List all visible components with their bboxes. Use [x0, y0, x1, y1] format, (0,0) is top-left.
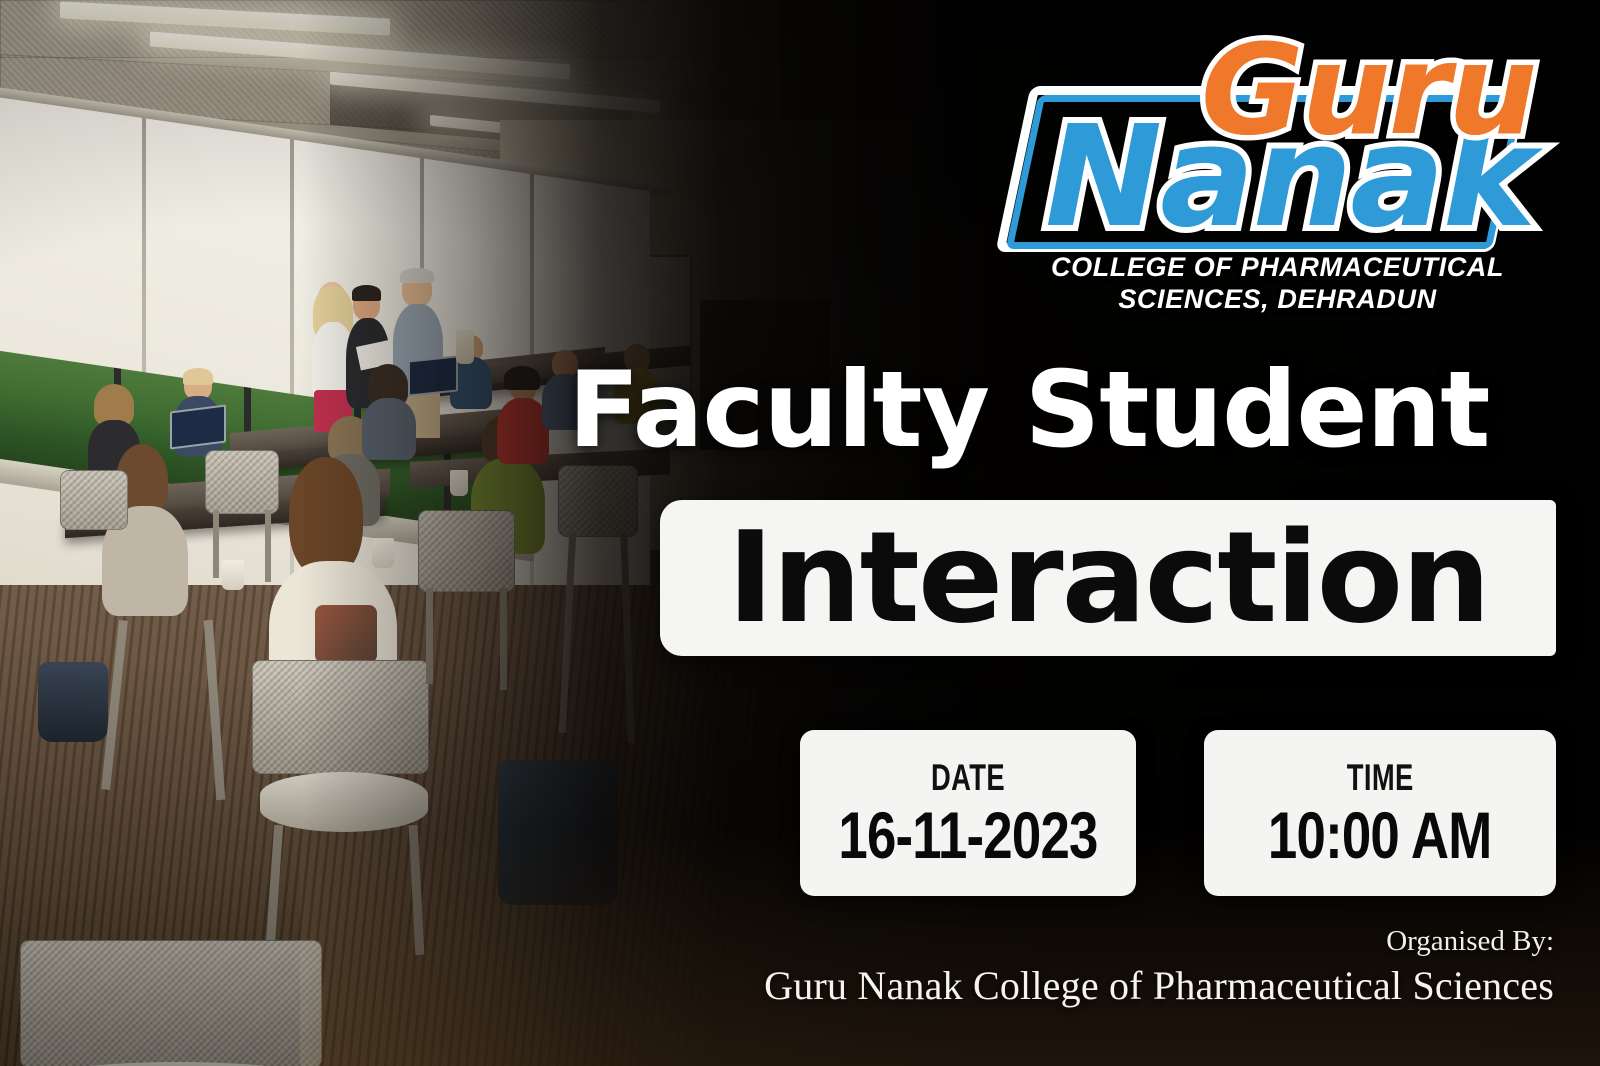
time-label: TIME: [1347, 759, 1414, 796]
organiser-name: Guru Nanak College of Pharmaceutical Sci…: [764, 962, 1554, 1009]
time-card: TIME 10:00 AM: [1204, 730, 1556, 896]
logo-wordmark: Nanak Nanak Guru Guru: [1005, 34, 1550, 246]
date-card: DATE 16-11-2023: [800, 730, 1136, 896]
date-value: 16-11-2023: [838, 802, 1097, 868]
logo-word-guru: Guru: [1201, 28, 1535, 153]
organiser-prefix: Organised By:: [1386, 925, 1554, 958]
event-poster: Nanak Nanak Guru Guru COLLEGE OF PHARMAC…: [0, 0, 1600, 1066]
date-label: DATE: [931, 759, 1005, 796]
headline-line2: Interaction: [660, 500, 1556, 656]
logo-subtitle-line2: SCIENCES, DEHRADUN: [1005, 284, 1550, 316]
time-value: 10:00 AM: [1268, 802, 1491, 868]
logo-subtitle: COLLEGE OF PHARMACEUTICAL SCIENCES, DEHR…: [1005, 252, 1550, 316]
logo-subtitle-line1: COLLEGE OF PHARMACEUTICAL: [1005, 252, 1550, 284]
headline-line2-box: Interaction: [660, 500, 1556, 656]
college-logo: Nanak Nanak Guru Guru COLLEGE OF PHARMAC…: [1005, 34, 1550, 324]
headline-line1: Faculty Student: [568, 358, 1490, 463]
